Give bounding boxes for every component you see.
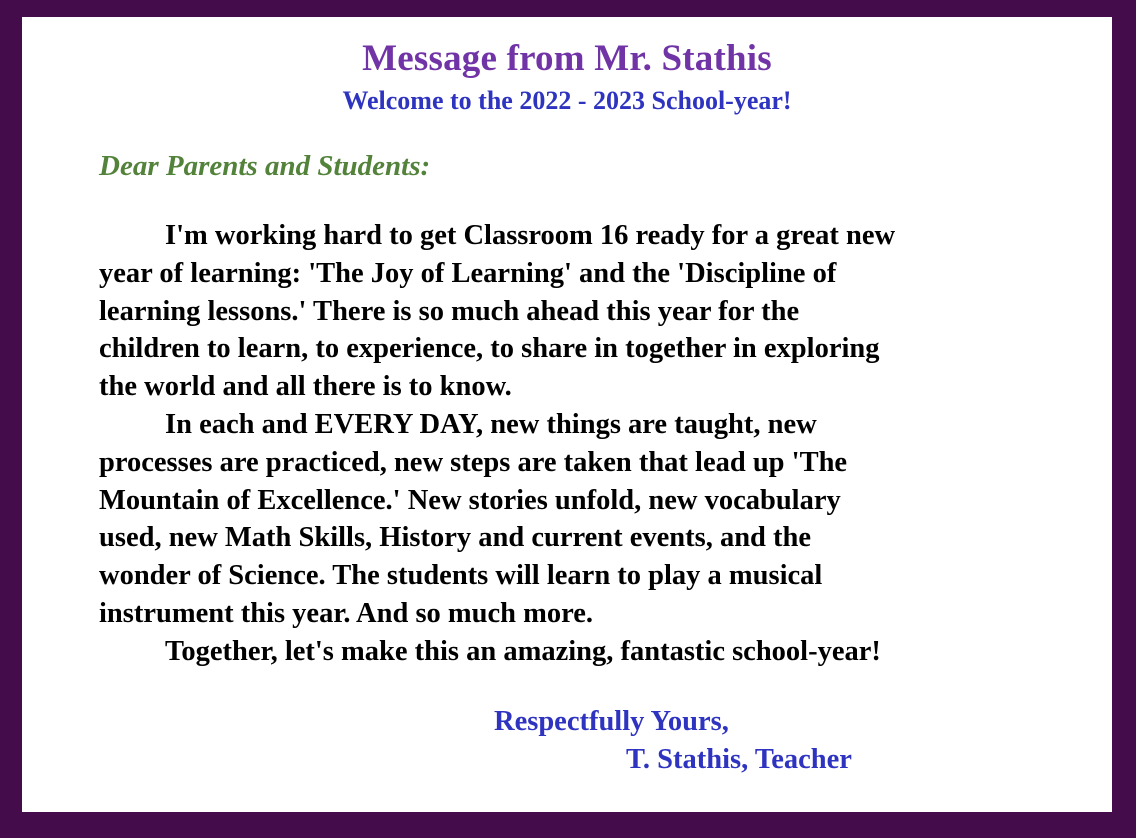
body-line: wonder of Science. The students will lea…: [99, 557, 1062, 595]
body-line: processes are practiced, new steps are t…: [99, 444, 1062, 482]
body-line: I'm working hard to get Classroom 16 rea…: [99, 217, 1062, 255]
closing-salutation: Respectfully Yours,: [99, 703, 1112, 741]
body-line: year of learning: 'The Joy of Learning' …: [99, 255, 1062, 293]
body-line-text: year of learning: 'The Joy of Learning' …: [99, 258, 836, 289]
body-line-text: Mountain of Excellence.' New stories unf…: [99, 485, 841, 516]
body-line: In each and EVERY DAY, new things are ta…: [99, 406, 1062, 444]
letter-content: Message from Mr. Stathis Welcome to the …: [22, 17, 1112, 812]
signature-name: T. Stathis, Teacher: [99, 741, 1112, 779]
body-line-text: In each and EVERY DAY, new things are ta…: [165, 409, 817, 440]
body-line: Mountain of Excellence.' New stories unf…: [99, 482, 1062, 520]
salutation: Dear Parents and Students:: [22, 117, 1112, 183]
body-line: the world and all there is to know.: [99, 368, 1062, 406]
body-line-text: wonder of Science. The students will lea…: [99, 560, 822, 591]
body-line: children to learn, to experience, to sha…: [99, 330, 1062, 368]
body-line: instrument this year. And so much more.: [99, 595, 1062, 633]
letter-body: I'm working hard to get Classroom 16 rea…: [22, 183, 1112, 671]
page-title: Message from Mr. Stathis: [22, 17, 1112, 81]
body-line: used, new Math Skills, History and curre…: [99, 519, 1062, 557]
page-subtitle: Welcome to the 2022 - 2023 School-year!: [22, 81, 1112, 117]
body-line: learning lessons.' There is so much ahea…: [99, 293, 1062, 331]
body-line: Together, let's make this an amazing, fa…: [99, 633, 1062, 671]
letter-paper: Message from Mr. Stathis Welcome to the …: [22, 17, 1112, 812]
body-line-text: children to learn, to experience, to sha…: [99, 333, 880, 364]
body-line-text: used, new Math Skills, History and curre…: [99, 522, 811, 553]
letter-closing: Respectfully Yours, T. Stathis, Teacher: [22, 671, 1112, 779]
body-line-text: learning lessons.' There is so much ahea…: [99, 296, 799, 327]
body-line-text: processes are practiced, new steps are t…: [99, 447, 847, 478]
body-line-text: the world and all there is to know.: [99, 371, 512, 402]
body-line-text: Together, let's make this an amazing, fa…: [165, 636, 881, 667]
body-line-text: I'm working hard to get Classroom 16 rea…: [165, 220, 895, 251]
body-line-text: instrument this year. And so much more.: [99, 598, 593, 629]
